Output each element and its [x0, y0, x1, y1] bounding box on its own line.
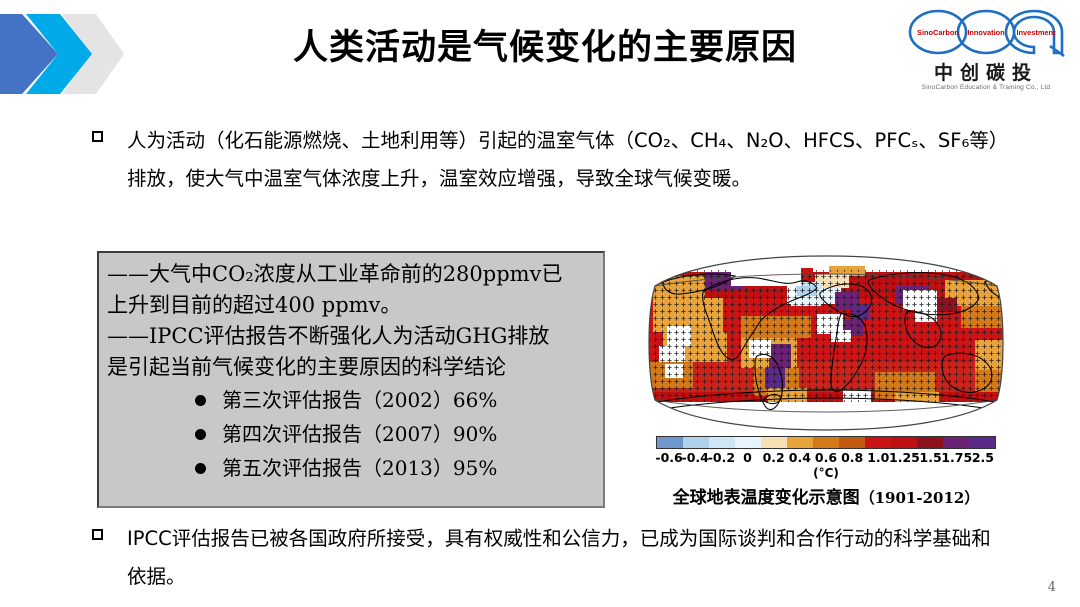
colorbar-swatch-7: [839, 437, 865, 448]
panel-line-2: 上升到目前的超过400 ppmv。: [107, 290, 595, 321]
colorbar-tick-11: 1.75: [941, 450, 972, 465]
colorbar-tick-10: 1.5: [920, 450, 942, 465]
colorbar-tick-2: -0.2: [708, 450, 735, 465]
bullet-2-line-2: 依据。: [127, 558, 991, 596]
panel-line-4: 是引起当前气候变化的主要原因的科学结论: [107, 352, 595, 383]
colorbar-swatch-9: [891, 437, 917, 448]
figure-caption: 全球地表温度变化示意图（1901-2012）: [645, 483, 1007, 508]
colorbar-tick-4: 0.2: [763, 450, 785, 465]
colorbar-swatch-1: [683, 437, 709, 448]
colorbar-tick-3: 0: [743, 450, 752, 465]
page-number: 4: [1048, 580, 1056, 595]
panel-sub-item-1-label: 第三次评估报告（2002）66%: [222, 383, 497, 417]
logo-ring-labels: SinoCarbon Innovation Investment: [900, 8, 1072, 60]
colorbar-swatch-8: [865, 437, 891, 448]
highlight-panel: ——大气中CO₂浓度从工业革命前的280ppmv已 上升到目前的超过400 pp…: [97, 251, 605, 508]
bullet-item-2: IPCC评估报告已被各国政府所接受，具有权威性和公信力，已成为国际谈判和合作行动…: [92, 520, 1042, 596]
logo-company-cn: 中创碳投: [900, 58, 1072, 85]
colorbar-tick-9: 1.25: [889, 450, 920, 465]
panel-line-3: ——IPCC评估报告不断强化人为活动GHG排放: [107, 321, 595, 352]
page-title: 人类活动是气候变化的主要原因: [200, 14, 890, 74]
logo-ring-label-3: Investment: [1016, 28, 1056, 37]
bullet-1-text: 人为活动（化石能源燃烧、土地利用等）引起的温室气体（CO₂、CH₄、N₂O、HF…: [127, 122, 1008, 198]
panel-line-1: ——大气中CO₂浓度从工业革命前的280ppmv已: [107, 259, 595, 290]
bullet-2-text: IPCC评估报告已被各国政府所接受，具有权威性和公信力，已成为国际谈判和合作行动…: [127, 520, 991, 596]
colorbar-tick-6: 0.6: [815, 450, 837, 465]
hollow-square-bullet-icon: [92, 529, 103, 540]
colorbar-tick-7: 0.8: [841, 450, 863, 465]
slide-header: 人类活动是气候变化的主要原因 SinoCarbon Innovation Inv…: [0, 0, 1080, 108]
map-temperature-field: [645, 252, 1007, 434]
panel-sub-item-2-label: 第四次评估报告（2007）90%: [222, 417, 497, 451]
colorbar-swatch-5: [787, 437, 813, 448]
bullet-2-line-1: IPCC评估报告已被各国政府所接受，具有权威性和公信力，已成为国际谈判和合作行动…: [127, 520, 991, 558]
slide: 人类活动是气候变化的主要原因 SinoCarbon Innovation Inv…: [0, 0, 1080, 607]
figure-caption-years: （1901-2012）: [860, 489, 980, 507]
panel-sub-item-1: 第三次评估报告（2002）66%: [107, 383, 595, 417]
logo-ring-label-2: Innovation: [967, 28, 1005, 37]
chevron-decoration-icon: [0, 6, 150, 102]
colorbar-swatch-4: [761, 437, 787, 448]
colorbar-swatch-3: [735, 437, 761, 448]
temperature-map-figure: -0.6-0.4-0.200.20.40.60.81.01.251.51.752…: [645, 252, 1007, 502]
colorbar-tick-8: 1.0: [867, 450, 889, 465]
colorbar-swatch-2: [709, 437, 735, 448]
colorbar-swatch-0: [657, 437, 683, 448]
colorbar-swatch-10: [917, 437, 943, 448]
colorbar-tick-5: 0.4: [789, 450, 811, 465]
colorbar-tick-0: -0.6: [655, 450, 682, 465]
logo-ring-label-1: SinoCarbon: [917, 28, 959, 37]
bullet-item-1: 人为活动（化石能源燃烧、土地利用等）引起的温室气体（CO₂、CH₄、N₂O、HF…: [92, 122, 1042, 198]
colorbar-tick-12: 2.5: [972, 450, 994, 465]
panel-sub-item-3: 第五次评估报告（2013）95%: [107, 451, 595, 485]
logo-company-en: SinoCarbon Education & Training Co., Ltd: [900, 84, 1072, 91]
bullet-1-line-1: 人为活动（化石能源燃烧、土地利用等）引起的温室气体（CO₂、CH₄、N₂O、HF…: [127, 122, 1008, 160]
panel-sub-item-2: 第四次评估报告（2007）90%: [107, 417, 595, 451]
colorbar-swatch-12: [969, 437, 995, 448]
colorbar-tick-labels: -0.6-0.4-0.200.20.40.60.81.01.251.51.752…: [645, 450, 1007, 466]
bullet-1-line-2: 排放，使大气中温室气体浓度上升，温室效应增强，导致全球气候变暖。: [127, 160, 1008, 198]
temperature-colorbar: [656, 436, 996, 449]
colorbar-tick-1: -0.4: [682, 450, 709, 465]
colorbar-unit-label: (°C): [645, 466, 1007, 480]
colorbar-swatch-6: [813, 437, 839, 448]
colorbar-swatch-11: [943, 437, 969, 448]
figure-caption-cn: 全球地表温度变化示意图: [673, 488, 860, 508]
filled-dot-bullet-icon: [195, 463, 206, 474]
filled-dot-bullet-icon: [195, 429, 206, 440]
world-temperature-map: [645, 252, 1007, 434]
panel-sub-item-3-label: 第五次评估报告（2013）95%: [222, 451, 497, 485]
company-logo: SinoCarbon Innovation Investment 中创碳投 Si…: [900, 8, 1072, 100]
filled-dot-bullet-icon: [195, 395, 206, 406]
hollow-square-bullet-icon: [92, 131, 103, 142]
